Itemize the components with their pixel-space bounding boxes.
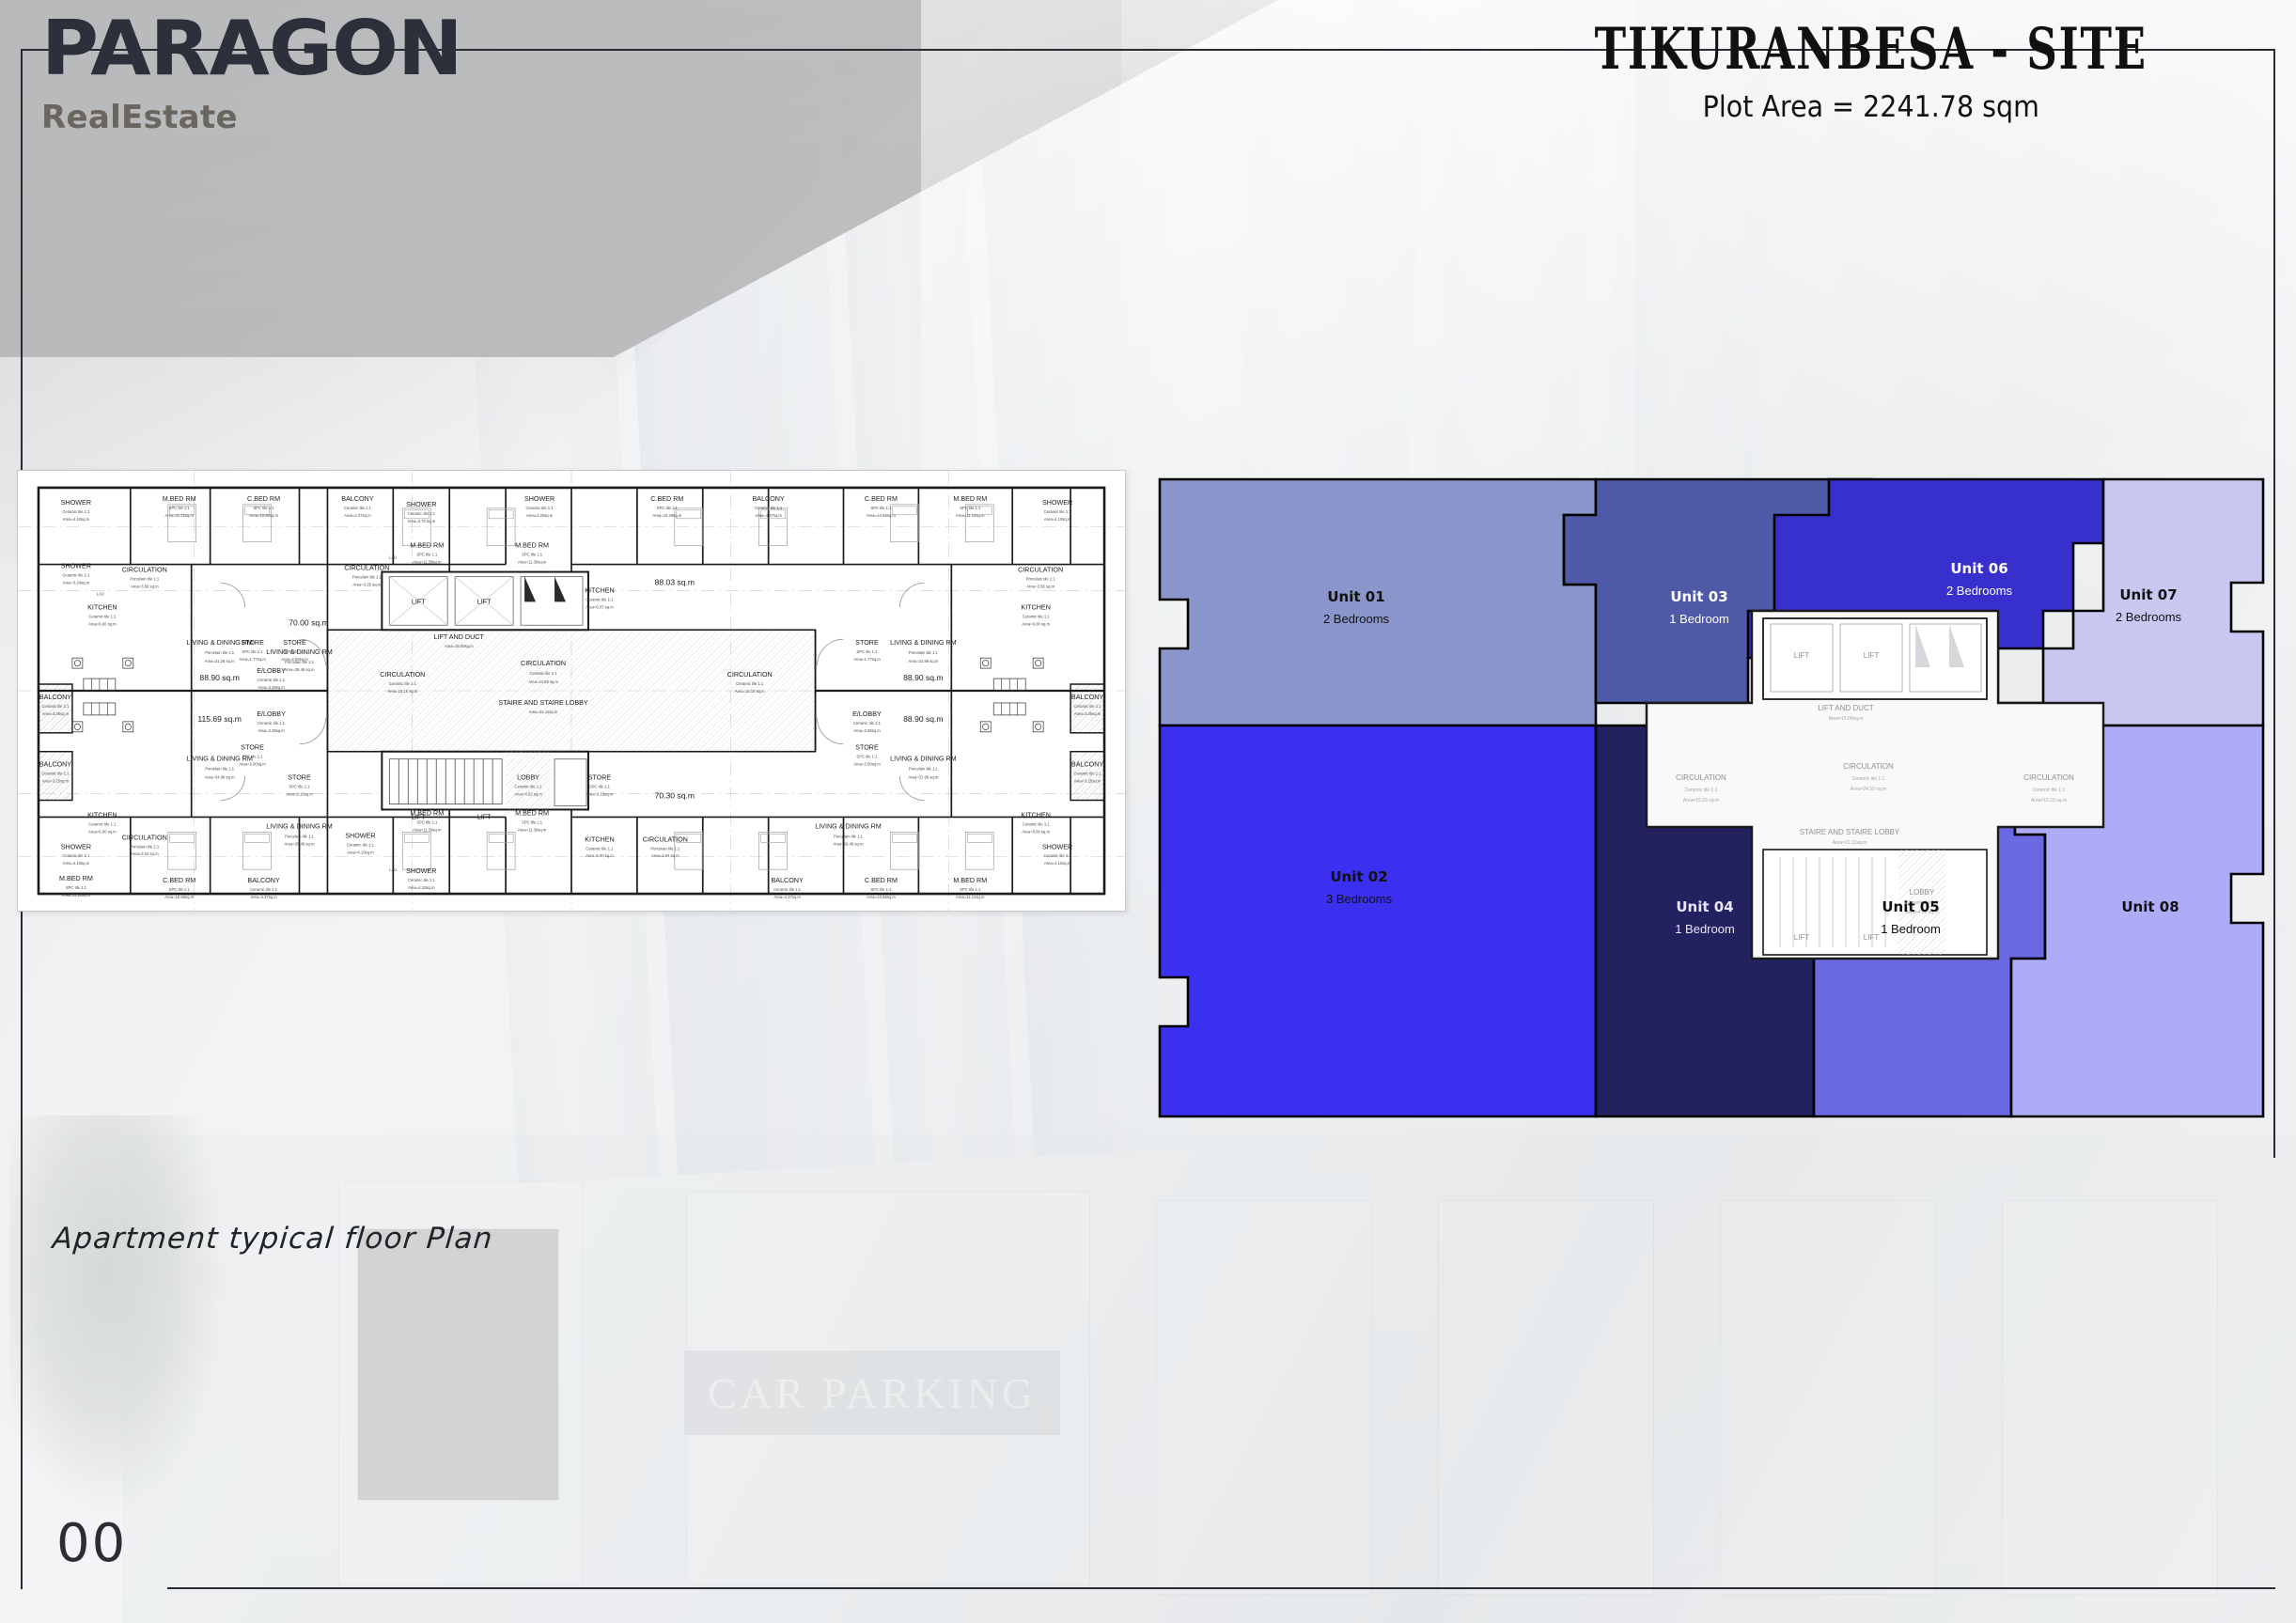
slide-page: CAR PARKING PARAGON RealEstate TIKURANBE… <box>0 0 2296 1623</box>
svg-text:Area=3.25sq.m: Area=3.25sq.m <box>1074 779 1101 784</box>
svg-text:SPC tile 1:1: SPC tile 1:1 <box>960 887 981 892</box>
svg-text:Area=15.15 sq.m: Area=15.15 sq.m <box>735 689 765 694</box>
svg-text:Porcelain tile 1:1: Porcelain tile 1:1 <box>909 650 939 655</box>
svg-text:STORE: STORE <box>855 744 879 752</box>
svg-text:Unit 02: Unit 02 <box>1330 868 1387 885</box>
svg-text:Ceramic tile 1:1: Ceramic tile 1:1 <box>586 597 614 601</box>
svg-text:SPC tile 1:1: SPC tile 1:1 <box>242 649 264 654</box>
svg-text:3 Bedrooms: 3 Bedrooms <box>1326 892 1393 906</box>
svg-text:Area=3.58 sq.m: Area=3.58 sq.m <box>131 584 159 588</box>
svg-text:SHOWER: SHOWER <box>345 832 375 839</box>
svg-text:Area=4.37sq.m: Area=4.37sq.m <box>344 513 371 518</box>
svg-text:M.BED RM: M.BED RM <box>515 542 549 550</box>
svg-text:LIVING & DINING RM: LIVING & DINING RM <box>890 639 957 647</box>
svg-text:KITCHEN: KITCHEN <box>87 811 117 819</box>
svg-text:Area=3.25sq.m: Area=3.25sq.m <box>1074 711 1101 716</box>
brand-subtitle: RealEstate <box>41 99 445 136</box>
svg-text:SPC tile 1:1: SPC tile 1:1 <box>589 785 611 789</box>
svg-text:Area=6.07 sq.m: Area=6.07 sq.m <box>586 604 614 609</box>
svg-text:Area=3.25sq.m: Area=3.25sq.m <box>526 513 554 518</box>
svg-text:SHOWER: SHOWER <box>406 867 436 875</box>
svg-text:CIRCULATION: CIRCULATION <box>1018 567 1063 574</box>
svg-text:Unit 03: Unit 03 <box>1670 588 1727 605</box>
svg-text:Ceramic tile 1:1: Ceramic tile 1:1 <box>408 511 436 516</box>
svg-text:Area=4.10sq.m: Area=4.10sq.m <box>63 861 90 866</box>
svg-text:CIRCULATION: CIRCULATION <box>122 834 167 841</box>
svg-text:Area=4.37sq.m: Area=4.37sq.m <box>755 513 782 518</box>
svg-text:E/LOBBY: E/LOBBY <box>257 667 286 675</box>
svg-text:Ceramic tile 1:1: Ceramic tile 1:1 <box>515 785 543 789</box>
svg-text:Area=3.39sq.m: Area=3.39sq.m <box>258 728 285 733</box>
unit-area-unit02[interactable] <box>1160 726 1596 1116</box>
svg-text:Area=10.66sq.m: Area=10.66sq.m <box>249 513 278 518</box>
svg-text:Ceramic tile 1:1: Ceramic tile 1:1 <box>258 721 286 726</box>
svg-text:LIVING & DINING RM: LIVING & DINING RM <box>815 822 882 830</box>
svg-text:KITCHEN: KITCHEN <box>1021 811 1050 819</box>
svg-text:88.03 sq.m: 88.03 sq.m <box>655 577 695 586</box>
svg-text:Area=15.15 sq.m: Area=15.15 sq.m <box>387 689 417 694</box>
svg-text:SPC tile 1:1: SPC tile 1:1 <box>254 506 275 510</box>
svg-text:Area=34.96 sq.m: Area=34.96 sq.m <box>205 775 235 780</box>
svg-text:CIRCULATION: CIRCULATION <box>2023 773 2074 782</box>
svg-text:Area=4.10sq.m: Area=4.10sq.m <box>347 850 374 854</box>
svg-text:Area=4.10sq.m: Area=4.10sq.m <box>1044 517 1071 522</box>
svg-text:Area=4.10sq.m: Area=4.10sq.m <box>63 517 90 522</box>
svg-text:SPC tile 1:1: SPC tile 1:1 <box>870 506 892 510</box>
svg-text:Area=15.15 sq.m: Area=15.15 sq.m <box>1683 798 1719 804</box>
svg-text:Ceramic tile 1:1: Ceramic tile 1:1 <box>1023 821 1051 826</box>
svg-text:SHOWER: SHOWER <box>61 499 91 507</box>
svg-text:Area=11.12sq.m: Area=11.12sq.m <box>956 513 985 518</box>
svg-text:2 Bedrooms: 2 Bedrooms <box>2116 610 2182 624</box>
svg-text:Area=3.25sq.m: Area=3.25sq.m <box>42 711 70 716</box>
svg-text:Ceramic tile 1:1: Ceramic tile 1:1 <box>526 506 554 510</box>
svg-text:Area=4.10sq.m: Area=4.10sq.m <box>1044 861 1071 866</box>
svg-text:Area=6.00 sq.m: Area=6.00 sq.m <box>88 621 117 626</box>
svg-text:CIRCULATION: CIRCULATION <box>380 671 425 679</box>
page-number: 00 <box>56 1513 127 1574</box>
svg-text:C.BED RM: C.BED RM <box>247 495 280 503</box>
svg-text:Ceramic tile 1:1: Ceramic tile 1:1 <box>1074 772 1102 776</box>
svg-text:KITCHEN: KITCHEN <box>1021 603 1050 611</box>
svg-text:SPC tile 1:1: SPC tile 1:1 <box>416 553 438 557</box>
svg-text:Ceramic tile 1:1: Ceramic tile 1:1 <box>1074 704 1102 709</box>
svg-text:LAU: LAU <box>97 591 104 596</box>
svg-text:Ceramic tile 1:1: Ceramic tile 1:1 <box>773 887 802 892</box>
svg-text:SPC tile 1:1: SPC tile 1:1 <box>284 649 305 654</box>
svg-text:BALCONY: BALCONY <box>341 495 373 503</box>
svg-text:70.00 sq.m: 70.00 sq.m <box>289 617 328 627</box>
svg-text:SPC tile 1:1: SPC tile 1:1 <box>416 819 438 824</box>
svg-text:Area=1.77sq.m: Area=1.77sq.m <box>853 657 881 662</box>
car-parking-sign: CAR PARKING <box>684 1350 1060 1435</box>
svg-text:KITCHEN: KITCHEN <box>585 586 614 594</box>
svg-text:LOBBY: LOBBY <box>1910 888 1935 897</box>
svg-text:LIVING & DINING RM: LIVING & DINING RM <box>266 822 333 830</box>
svg-text:88.90 sq.m: 88.90 sq.m <box>903 714 943 724</box>
svg-text:Area=4.10sq.m: Area=4.10sq.m <box>408 885 435 890</box>
svg-text:Area=6.00 sq.m: Area=6.00 sq.m <box>1022 829 1050 834</box>
svg-text:Area=3.25sq.m: Area=3.25sq.m <box>42 779 70 784</box>
brand-name: PARAGON <box>41 13 462 86</box>
svg-text:Area=10.29sq.m: Area=10.29sq.m <box>652 513 681 518</box>
svg-text:Ceramic tile 1:1: Ceramic tile 1:1 <box>344 506 372 510</box>
svg-text:Ceramic tile 1:1: Ceramic tile 1:1 <box>408 878 436 882</box>
svg-text:Ceramic tile 1:1: Ceramic tile 1:1 <box>1044 509 1072 514</box>
svg-text:Unit 08: Unit 08 <box>2121 898 2179 915</box>
svg-text:Area=24.59 sq.m: Area=24.59 sq.m <box>1851 787 1886 792</box>
svg-text:BALCONY: BALCONY <box>39 694 71 701</box>
svg-text:Ceramic tile 1:1: Ceramic tile 1:1 <box>853 721 882 726</box>
svg-text:CIRCULATION: CIRCULATION <box>344 565 389 572</box>
svg-text:Area=4.52 sq.m: Area=4.52 sq.m <box>514 792 542 797</box>
svg-text:SPC tile 1:1: SPC tile 1:1 <box>289 785 310 789</box>
svg-text:Area=11.12sq.m: Area=11.12sq.m <box>956 895 985 899</box>
svg-text:BALCONY: BALCONY <box>771 877 803 884</box>
svg-text:C.BED RM: C.BED RM <box>865 877 898 884</box>
svg-text:STORE: STORE <box>588 774 612 782</box>
svg-text:SPC tile 1:1: SPC tile 1:1 <box>856 649 878 654</box>
svg-text:Ceramic tile 1:1: Ceramic tile 1:1 <box>250 887 278 892</box>
svg-text:LIFT: LIFT <box>412 598 426 605</box>
svg-text:E/LOBBY: E/LOBBY <box>852 710 882 718</box>
svg-text:Porcelain tile 1:1: Porcelain tile 1:1 <box>285 834 315 838</box>
svg-text:Unit 06: Unit 06 <box>1950 560 2007 577</box>
svg-text:KITCHEN: KITCHEN <box>87 603 117 611</box>
svg-text:Area=6.00 sq.m: Area=6.00 sq.m <box>88 829 117 834</box>
svg-text:Area=10.66sq.m: Area=10.66sq.m <box>867 895 896 899</box>
svg-text:Area=31.96 sq.m: Area=31.96 sq.m <box>908 659 938 663</box>
svg-text:STORE: STORE <box>241 744 264 752</box>
svg-text:Ceramic tile 1:1: Ceramic tile 1:1 <box>41 772 70 776</box>
svg-text:Porcelain tile 1:1: Porcelain tile 1:1 <box>205 650 235 655</box>
svg-text:M.BED RM: M.BED RM <box>163 495 196 503</box>
svg-text:CIRCULATION: CIRCULATION <box>1843 762 1894 771</box>
svg-text:SHOWER: SHOWER <box>1042 499 1072 507</box>
svg-text:BALCONY: BALCONY <box>39 761 71 769</box>
svg-text:Area=2.00sq.m: Area=2.00sq.m <box>853 762 881 767</box>
svg-text:CIRCULATION: CIRCULATION <box>1676 773 1726 782</box>
svg-text:Area=21.11sq.m: Area=21.11sq.m <box>529 710 558 714</box>
svg-text:LIFT: LIFT <box>477 813 492 820</box>
svg-text:Area=10.66sq.m: Area=10.66sq.m <box>867 513 896 518</box>
svg-text:E/LOBBY: E/LOBBY <box>257 710 286 718</box>
svg-text:CIRCULATION: CIRCULATION <box>727 671 773 679</box>
svg-text:STAIRE AND STAIRE LOBBY: STAIRE AND STAIRE LOBBY <box>1800 828 1900 836</box>
svg-text:Area=15.00sq.m: Area=15.00sq.m <box>445 644 474 648</box>
svg-text:1 Bedroom: 1 Bedroom <box>1675 922 1735 936</box>
svg-text:Porcelain tile 1:1: Porcelain tile 1:1 <box>352 575 383 580</box>
svg-text:SHOWER: SHOWER <box>524 495 554 503</box>
svg-text:SPC tile 1:1: SPC tile 1:1 <box>856 755 878 759</box>
svg-text:Porcelain tile 1:1: Porcelain tile 1:1 <box>1026 577 1056 582</box>
svg-text:Unit 04: Unit 04 <box>1676 898 1733 915</box>
svg-text:Ceramic tile 1:1: Ceramic tile 1:1 <box>1044 853 1072 858</box>
svg-text:LIFT: LIFT <box>1794 651 1810 660</box>
svg-text:Porcelain tile 1:1: Porcelain tile 1:1 <box>834 834 864 838</box>
svg-text:BALCONY: BALCONY <box>753 495 785 503</box>
svg-text:Ceramic tile 1:1: Ceramic tile 1:1 <box>755 506 783 510</box>
svg-text:Area=1.77sq.m: Area=1.77sq.m <box>239 657 266 662</box>
svg-text:Area=11.12sq.m: Area=11.12sq.m <box>62 893 91 897</box>
svg-text:BALCONY: BALCONY <box>1071 761 1103 769</box>
svg-text:SPC tile 1:1: SPC tile 1:1 <box>169 887 191 892</box>
svg-text:Area=2.16sq.m: Area=2.16sq.m <box>586 792 614 797</box>
svg-text:1 Bedroom: 1 Bedroom <box>1881 922 1941 936</box>
svg-text:Area=21.11sq.m: Area=21.11sq.m <box>1833 840 1866 846</box>
svg-text:CIRCULATION: CIRCULATION <box>521 660 566 667</box>
svg-text:Porcelain tile 1:1: Porcelain tile 1:1 <box>130 577 160 582</box>
svg-text:SPC tile 1:1: SPC tile 1:1 <box>522 553 543 557</box>
svg-text:Ceramic tile 1:1: Ceramic tile 1:1 <box>62 573 90 578</box>
site-header: TIKURANBESA - SITE Plot Area = 2241.78 s… <box>1564 21 2179 124</box>
svg-text:LIFT: LIFT <box>477 598 492 605</box>
svg-text:STORE: STORE <box>241 639 264 647</box>
svg-text:Area=3.70 sq.m: Area=3.70 sq.m <box>407 519 435 523</box>
svg-text:LIFT: LIFT <box>1864 933 1880 942</box>
svg-text:STORE: STORE <box>288 774 311 782</box>
svg-text:SHOWER: SHOWER <box>61 843 91 851</box>
site-title: TIKURANBESA - SITE <box>1595 21 2148 78</box>
svg-text:M.BED RM: M.BED RM <box>953 495 987 503</box>
svg-text:Ceramic tile 1:1: Ceramic tile 1:1 <box>1852 776 1885 782</box>
svg-text:BALCONY: BALCONY <box>247 877 279 884</box>
svg-text:Area=11.39sq.m: Area=11.39sq.m <box>413 560 442 565</box>
svg-text:Area=6.00 sq.m: Area=6.00 sq.m <box>1022 621 1050 626</box>
svg-text:Area=3.39sq.m: Area=3.39sq.m <box>853 728 881 733</box>
background-tree <box>9 1116 226 1510</box>
svg-text:Area=3.25 sq.m: Area=3.25 sq.m <box>353 582 382 586</box>
svg-text:C.BED RM: C.BED RM <box>650 495 683 503</box>
svg-text:Ceramic tile 1:1: Ceramic tile 1:1 <box>62 853 90 858</box>
svg-text:M.BED RM: M.BED RM <box>515 809 549 817</box>
svg-text:C.BED RM: C.BED RM <box>163 877 195 884</box>
svg-text:Area=11.39sq.m: Area=11.39sq.m <box>518 560 547 565</box>
svg-text:Ceramic tile 1:1: Ceramic tile 1:1 <box>736 681 764 686</box>
svg-text:Unit 01: Unit 01 <box>1327 588 1384 605</box>
svg-text:LIFT AND DUCT: LIFT AND DUCT <box>1818 704 1874 712</box>
plot-area-text: Plot Area = 2241.78 sqm <box>1589 90 2154 124</box>
svg-text:Ceramic tile 1:1: Ceramic tile 1:1 <box>1685 788 1718 793</box>
svg-text:M.BED RM: M.BED RM <box>410 809 444 817</box>
svg-text:BALCONY: BALCONY <box>1071 694 1103 701</box>
svg-text:STORE: STORE <box>283 639 306 647</box>
svg-text:SPC tile 1:1: SPC tile 1:1 <box>66 885 87 890</box>
unit-layout-diagram[interactable]: LIFT LIFT LIFT AND DUCT Area=15.00sq.m C… <box>1154 470 2280 1128</box>
svg-text:CIRCULATION: CIRCULATION <box>643 835 688 843</box>
svg-text:Porcelain tile 1:1: Porcelain tile 1:1 <box>205 767 235 772</box>
svg-text:115.69 sq.m: 115.69 sq.m <box>197 714 242 724</box>
svg-text:Porcelain tile 1:1: Porcelain tile 1:1 <box>130 844 160 849</box>
svg-text:2 Bedrooms: 2 Bedrooms <box>1946 584 2013 598</box>
svg-text:SPC tile 1:1: SPC tile 1:1 <box>242 755 264 759</box>
svg-text:LIFT: LIFT <box>1794 933 1810 942</box>
svg-text:KITCHEN: KITCHEN <box>585 835 614 843</box>
svg-text:Area=15.15 sq.m: Area=15.15 sq.m <box>2031 798 2067 804</box>
svg-text:Area=4.37sq.m: Area=4.37sq.m <box>250 895 277 899</box>
svg-text:Ceramic tile 1:1: Ceramic tile 1:1 <box>586 846 614 851</box>
svg-text:SHOWER: SHOWER <box>406 501 436 508</box>
svg-text:Ceramic tile 1:1: Ceramic tile 1:1 <box>347 842 375 847</box>
svg-text:Unit 07: Unit 07 <box>2119 586 2177 603</box>
svg-text:STAIRE AND STAIRE LOBBY: STAIRE AND STAIRE LOBBY <box>498 699 588 707</box>
svg-text:M.BED RM: M.BED RM <box>953 877 987 884</box>
svg-text:Area=2.16sq.m: Area=2.16sq.m <box>286 792 313 797</box>
svg-text:70.30 sq.m: 70.30 sq.m <box>655 791 695 801</box>
svg-text:Area=10.66sq.m: Area=10.66sq.m <box>164 895 194 899</box>
unit-diagram-svg: LIFT LIFT LIFT AND DUCT Area=15.00sq.m C… <box>1154 470 2280 1128</box>
svg-text:Ceramic tile 1:1: Ceramic tile 1:1 <box>2033 788 2066 793</box>
background-lowrise-photo: CAR PARKING <box>122 1097 2296 1623</box>
svg-text:Ceramic tile 1:1: Ceramic tile 1:1 <box>1023 614 1051 618</box>
svg-text:Area=31.26 sq.m: Area=31.26 sq.m <box>205 659 235 663</box>
svg-text:LOBBY: LOBBY <box>517 774 539 782</box>
svg-text:Area=11.39sq.m: Area=11.39sq.m <box>518 827 547 832</box>
svg-text:Unit 05: Unit 05 <box>1882 898 1939 915</box>
svg-text:Area=15.00sq.m: Area=15.00sq.m <box>1829 716 1864 722</box>
svg-text:Area=28.46 sq.m: Area=28.46 sq.m <box>285 667 315 672</box>
svg-text:Area=3.24 sq.m: Area=3.24 sq.m <box>131 851 159 856</box>
plan-caption: Apartment typical floor Plan <box>51 1222 494 1256</box>
svg-text:Ceramic tile 1:1: Ceramic tile 1:1 <box>88 821 117 826</box>
svg-text:SPC tile 1:1: SPC tile 1:1 <box>960 506 981 510</box>
svg-text:2 Bedrooms: 2 Bedrooms <box>1323 612 1390 626</box>
svg-text:Area=24.59 sq.m: Area=24.59 sq.m <box>528 679 558 684</box>
floor-plan-svg: SHOWER Ceramic tile 1:1 Area=4.10sq.m M.… <box>18 471 1125 911</box>
svg-text:Area=11.12sq.m: Area=11.12sq.m <box>164 513 194 518</box>
svg-text:LAU: LAU <box>389 555 397 560</box>
svg-text:Area=6.00 sq.m: Area=6.00 sq.m <box>586 853 614 858</box>
svg-text:M.BED RM: M.BED RM <box>59 875 93 882</box>
svg-text:Ceramic tile 1:1: Ceramic tile 1:1 <box>41 704 70 709</box>
svg-text:Porcelain tile 1:1: Porcelain tile 1:1 <box>650 846 680 851</box>
svg-text:SPC tile 1:1: SPC tile 1:1 <box>522 819 543 824</box>
svg-text:SHOWER: SHOWER <box>1042 843 1072 851</box>
svg-text:Ceramic tile 1:1: Ceramic tile 1:1 <box>530 671 558 676</box>
svg-text:LAU: LAU <box>389 867 397 872</box>
svg-text:STORE: STORE <box>855 639 879 647</box>
svg-text:88.90 sq.m: 88.90 sq.m <box>199 673 239 682</box>
svg-text:Area=3.58 sq.m: Area=3.58 sq.m <box>1026 584 1054 588</box>
svg-text:Ceramic tile 1:1: Ceramic tile 1:1 <box>258 678 286 682</box>
svg-text:Ceramic tile 1:1: Ceramic tile 1:1 <box>88 614 117 618</box>
svg-text:M.BED RM: M.BED RM <box>410 542 444 550</box>
svg-text:1 Bedroom: 1 Bedroom <box>1669 612 1729 626</box>
frame-line-bottom <box>167 1587 2275 1589</box>
svg-text:Area=31.96 sq.m: Area=31.96 sq.m <box>908 775 938 780</box>
svg-text:Area=28.46 sq.m: Area=28.46 sq.m <box>285 841 315 846</box>
svg-text:88.90 sq.m: 88.90 sq.m <box>903 673 943 682</box>
svg-text:Porcelain tile 1:1: Porcelain tile 1:1 <box>909 767 939 772</box>
svg-text:Ceramic tile 1:1: Ceramic tile 1:1 <box>62 509 90 514</box>
svg-text:SPC tile 1:1: SPC tile 1:1 <box>169 506 191 510</box>
svg-text:Area=3.39sq.m: Area=3.39sq.m <box>258 685 285 690</box>
svg-text:LIFT AND DUCT: LIFT AND DUCT <box>434 633 485 641</box>
svg-text:LIFT: LIFT <box>1864 651 1880 660</box>
svg-text:Area=28.46 sq.m: Area=28.46 sq.m <box>834 841 864 846</box>
svg-text:Area=2.84 sq.m: Area=2.84 sq.m <box>651 853 679 858</box>
svg-text:C.BED RM: C.BED RM <box>865 495 898 503</box>
svg-text:SPC tile 1:1: SPC tile 1:1 <box>657 506 679 510</box>
svg-text:Area=4.37sq.m: Area=4.37sq.m <box>773 895 801 899</box>
svg-text:Area=2.00sq.m: Area=2.00sq.m <box>281 657 308 662</box>
svg-text:Area=3.24sq.m: Area=3.24sq.m <box>63 580 90 585</box>
brand-logo: PARAGON RealEstate <box>41 13 445 136</box>
svg-text:Area=11.39sq.m: Area=11.39sq.m <box>413 827 442 832</box>
svg-text:Ceramic tile 1:1: Ceramic tile 1:1 <box>389 681 417 686</box>
svg-text:Area=2.00sq.m: Area=2.00sq.m <box>239 762 266 767</box>
svg-text:SHOWER: SHOWER <box>61 563 91 570</box>
typical-floor-plan-drawing[interactable]: SHOWER Ceramic tile 1:1 Area=4.10sq.m M.… <box>17 470 1126 912</box>
svg-text:LIVING & DINING RM: LIVING & DINING RM <box>890 756 957 763</box>
svg-text:CIRCULATION: CIRCULATION <box>122 567 167 574</box>
svg-text:SPC tile 1:1: SPC tile 1:1 <box>870 887 892 892</box>
